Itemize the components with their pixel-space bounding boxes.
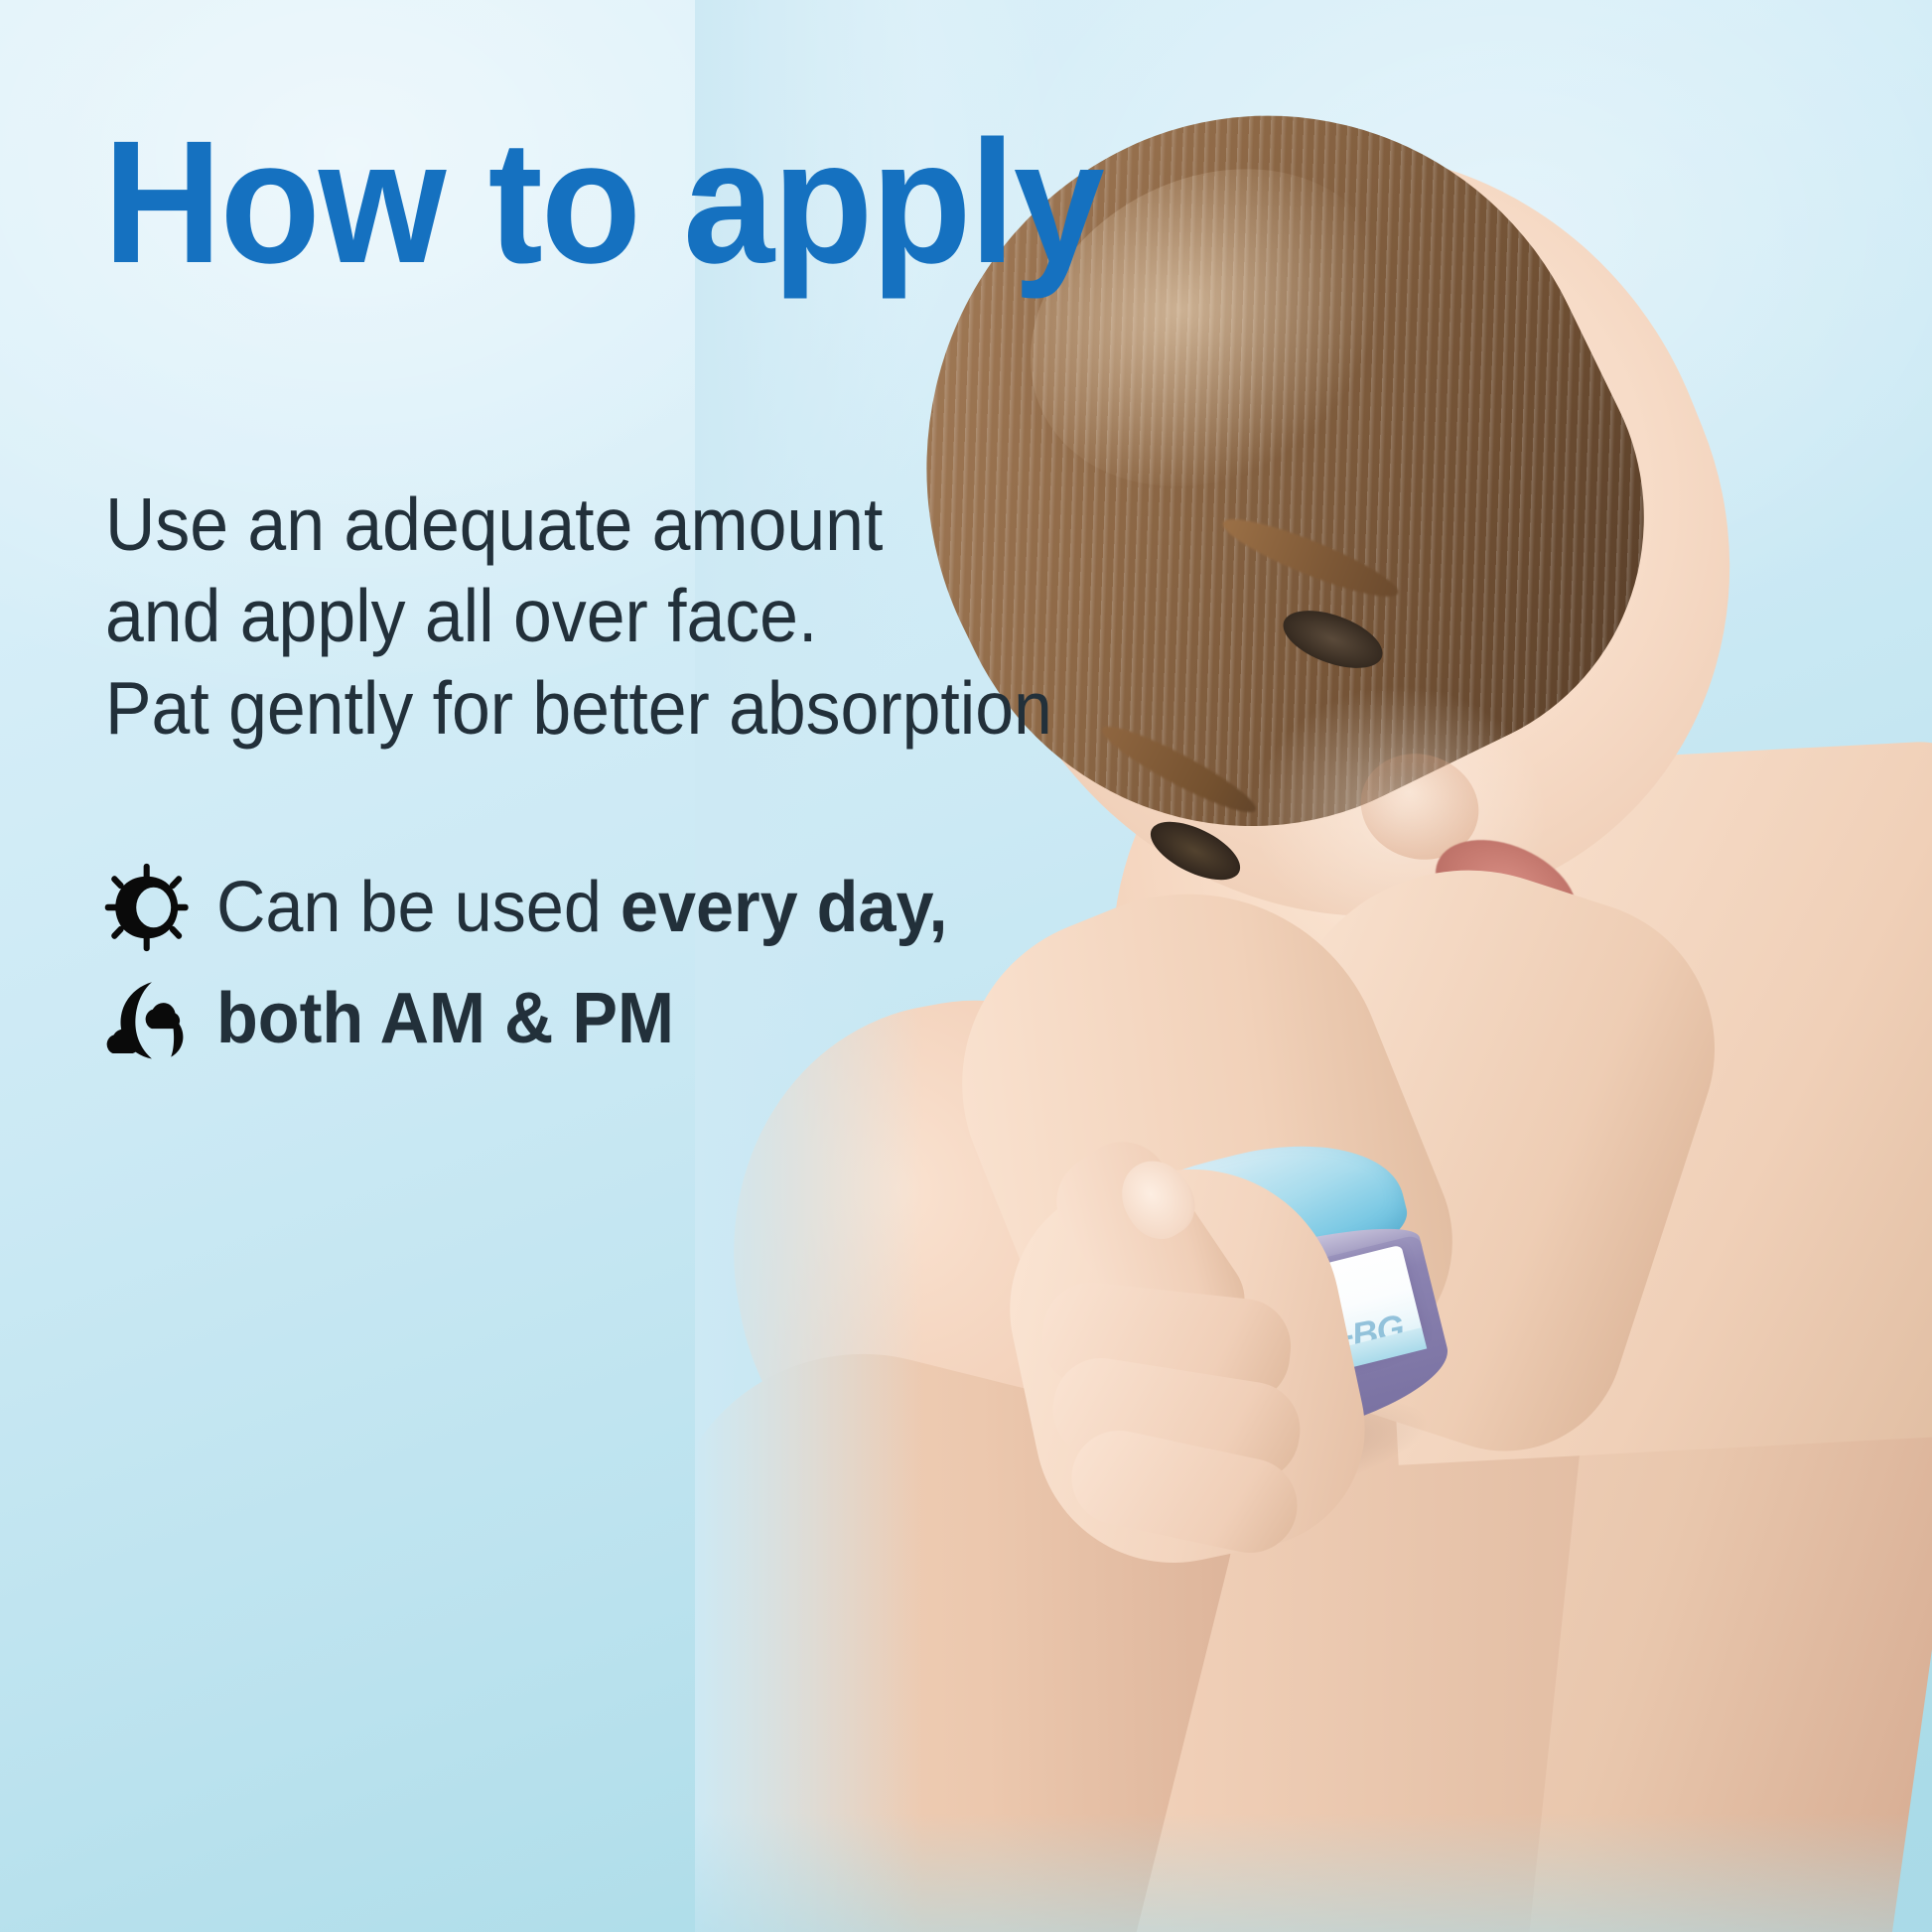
usage-list: Can be used every day, both AM & PM: [103, 852, 947, 1074]
usage-ampm-bold: both AM & PM: [216, 979, 674, 1058]
usage-item-ampm: both AM & PM: [103, 963, 947, 1074]
usage-daytime-regular: Can be used: [216, 868, 621, 947]
sun-icon: [103, 862, 190, 953]
moon-clouds-icon: [103, 973, 190, 1064]
instruction-line-2: and apply all over face.: [105, 570, 1052, 661]
instructions-paragraph: Use an adequate amount and apply all ove…: [105, 479, 1052, 754]
usage-text-daytime: Can be used every day,: [216, 872, 947, 943]
usage-daytime-bold: every day,: [621, 868, 948, 947]
instruction-line-3: Pat gently for better absorption: [105, 662, 1052, 754]
instruction-line-1: Use an adequate amount: [105, 479, 1052, 570]
promo-canvas: iUNIK BETA-GLUCAN 3X BARRIER CREAM Extre…: [0, 0, 1932, 1932]
page-title: How to apply: [103, 115, 1103, 290]
usage-text-ampm: both AM & PM: [216, 983, 674, 1054]
usage-item-daytime: Can be used every day,: [103, 852, 947, 963]
